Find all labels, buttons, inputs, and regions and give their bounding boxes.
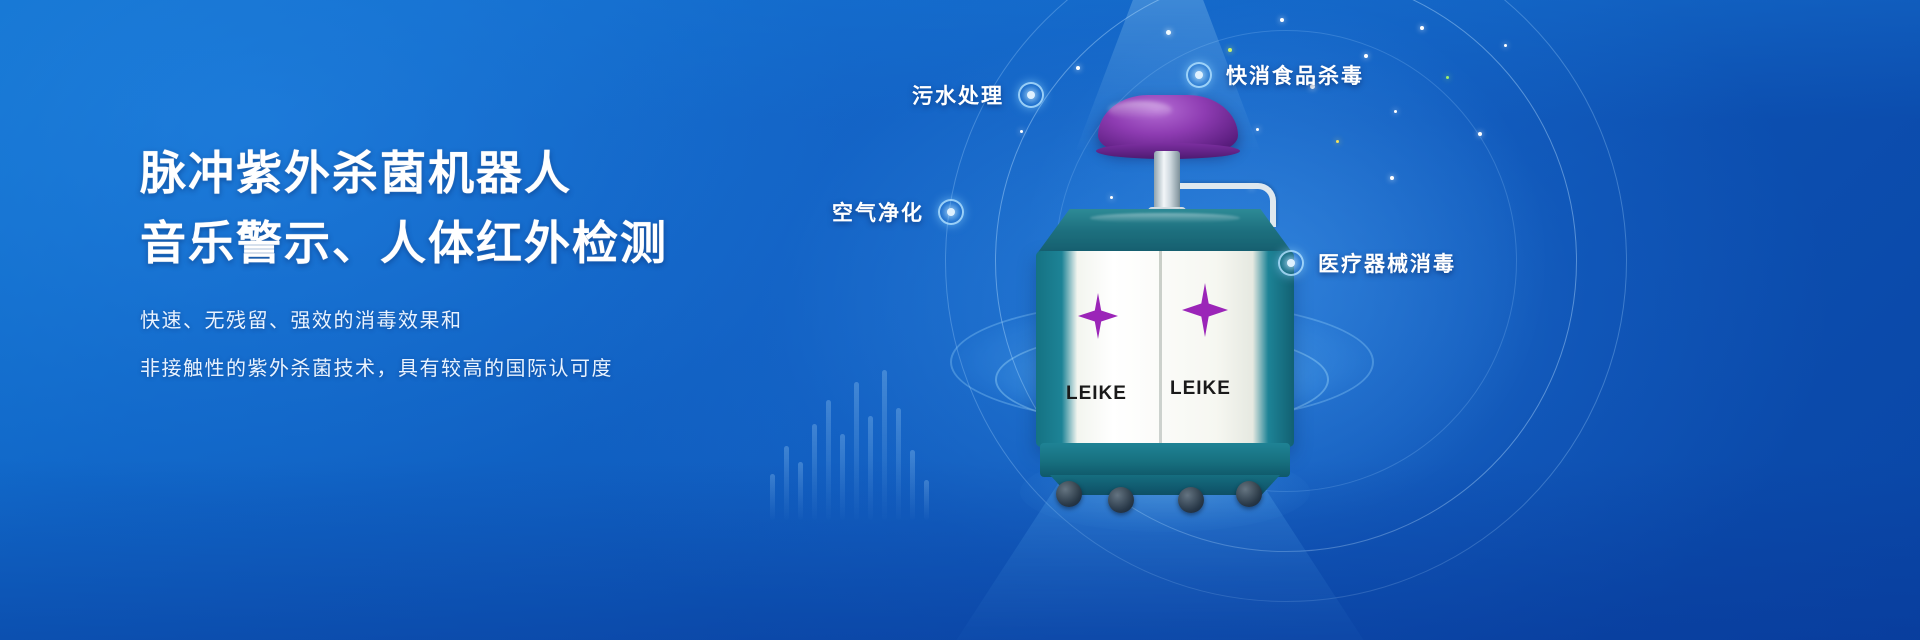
headline-line-2: 音乐警示、人体红外检测 [140, 220, 900, 266]
ring-dot-icon [938, 199, 964, 225]
brand-logo-right: LEIKE [1170, 378, 1231, 400]
robot-wheel [1236, 481, 1262, 507]
bottom-gradient-overlay [0, 460, 1920, 640]
hotspot-wastewater[interactable]: 污水处理 [912, 80, 1044, 110]
hotspot-label: 医疗器械消毒 [1318, 248, 1456, 278]
robot-body-seam [1159, 251, 1162, 447]
robot-wheel [1178, 487, 1204, 513]
hotspot-medical[interactable]: 医疗器械消毒 [1278, 248, 1456, 278]
ring-dot-icon [1278, 250, 1304, 276]
promo-banner: LEIKE LEIKE 污水处理 快消食品杀毒 空气净化 医疗器械消毒 脉冲紫外… [0, 0, 1920, 640]
robot-base-plate [1040, 443, 1290, 477]
robot-wheel [1108, 487, 1134, 513]
banner-text-block: 脉冲紫外杀菌机器人 音乐警示、人体红外检测 快速、无残留、强效的消毒效果和 非接… [140, 150, 900, 378]
subtitle-line-1: 快速、无残留、强效的消毒效果和 [140, 310, 900, 330]
headline-line-1: 脉冲紫外杀菌机器人 [140, 150, 900, 196]
hotspot-label: 快消食品杀毒 [1226, 60, 1364, 90]
uv-lamp-stem [1154, 151, 1180, 213]
robot-body-shell [1036, 251, 1294, 447]
ring-dot-icon [1186, 62, 1212, 88]
brand-logo-left: LEIKE [1066, 383, 1127, 405]
uv-disinfection-robot-illustration: LEIKE LEIKE [1030, 95, 1300, 505]
ring-dot-icon [1018, 82, 1044, 108]
subtitle-line-2: 非接触性的紫外杀菌技术，具有较高的国际认可度 [140, 358, 900, 378]
hotspot-label: 污水处理 [912, 80, 1004, 110]
hotspot-food[interactable]: 快消食品杀毒 [1186, 60, 1364, 90]
robot-top-highlight [1090, 213, 1240, 223]
subtitle-block: 快速、无残留、强效的消毒效果和 非接触性的紫外杀菌技术，具有较高的国际认可度 [140, 310, 900, 378]
robot-wheel [1056, 481, 1082, 507]
